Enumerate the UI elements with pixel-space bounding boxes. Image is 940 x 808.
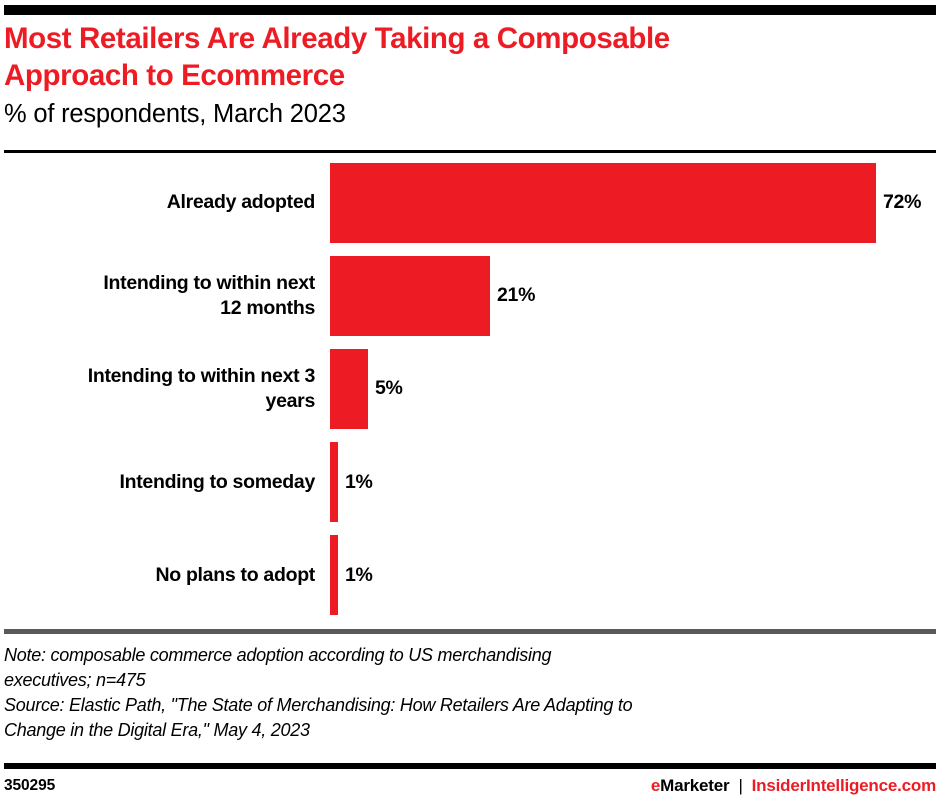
footer-divider: [4, 763, 936, 769]
note-divider: [4, 629, 936, 634]
bar-track: 21%: [330, 249, 940, 342]
category-label: Intending to within next 3 years: [0, 342, 315, 435]
chart-subtitle: % of respondents, March 2023: [4, 98, 924, 131]
category-label: Intending to within next 12 months: [0, 249, 315, 342]
chart-title: Most Retailers Are Already Taking a Comp…: [4, 20, 924, 94]
bar-already-adopted: [330, 163, 876, 243]
bar-row: Intending to someday 1%: [0, 436, 940, 529]
note-text: Note: composable commerce adoption accor…: [4, 643, 924, 693]
bar-value-label: 5%: [375, 377, 403, 400]
bar-value-label: 21%: [497, 284, 535, 307]
bar-track: 5%: [330, 342, 940, 435]
brand-emarketer-name: Marketer: [660, 776, 729, 796]
bar-value-label: 1%: [345, 564, 373, 587]
bar-row: Already adopted 72%: [0, 156, 940, 249]
category-label: No plans to adopt: [0, 529, 315, 622]
bar-intending-3-years: [330, 349, 368, 429]
bar-row: Intending to within next 3 years 5%: [0, 342, 940, 435]
bar-intending-12-months: [330, 256, 490, 336]
bar-chart-plot: Already adopted 72% Intending to within …: [0, 156, 940, 622]
chart-id: 350295: [4, 777, 55, 795]
bar-no-plans: [330, 535, 338, 615]
brand-lockup: eMarketer | InsiderIntelligence.com: [651, 776, 936, 796]
bar-row: No plans to adopt 1%: [0, 529, 940, 622]
chart-page: Most Retailers Are Already Taking a Comp…: [0, 0, 940, 808]
bar-row: Intending to within next 12 months 21%: [0, 249, 940, 342]
category-label: Already adopted: [0, 156, 315, 249]
brand-separator: |: [738, 776, 742, 796]
chart-footer: 350295 eMarketer | InsiderIntelligence.c…: [4, 776, 936, 796]
bar-track: 1%: [330, 529, 940, 622]
brand-emarketer-e: e: [651, 776, 660, 796]
bar-track: 1%: [330, 436, 940, 529]
brand-insider-intelligence: InsiderIntelligence.com: [752, 776, 936, 796]
bar-value-label: 1%: [345, 471, 373, 494]
chart-header: Most Retailers Are Already Taking a Comp…: [4, 20, 924, 131]
category-label: Intending to someday: [0, 436, 315, 529]
source-text: Source: Elastic Path, "The State of Merc…: [4, 693, 924, 743]
bar-intending-someday: [330, 442, 338, 522]
bar-value-label: 72%: [883, 191, 921, 214]
notes-block: Note: composable commerce adoption accor…: [4, 643, 924, 743]
top-divider: [4, 5, 936, 15]
bar-track: 72%: [330, 156, 940, 249]
plot-top-divider: [4, 150, 936, 153]
